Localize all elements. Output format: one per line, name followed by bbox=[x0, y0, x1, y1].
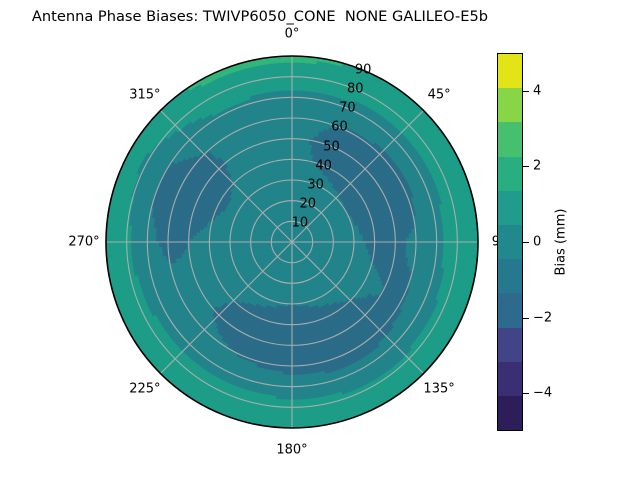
colorbar-tick-label: −2 bbox=[533, 310, 552, 325]
colorbar-tick-label: 4 bbox=[533, 83, 541, 98]
azimuth-tick-label-0: 0° bbox=[285, 27, 300, 42]
colorbar-tick-label: −4 bbox=[533, 386, 552, 401]
radial-tick-label-90: 90 bbox=[355, 63, 372, 78]
colorbar-tick bbox=[523, 91, 529, 92]
colorbar-band bbox=[498, 396, 522, 430]
azimuth-tick-label-45: 45° bbox=[428, 87, 451, 102]
colorbar-band bbox=[498, 54, 522, 88]
colorbar-band bbox=[498, 122, 522, 156]
radial-tick-label-70: 70 bbox=[339, 101, 356, 116]
colorbar-band bbox=[498, 157, 522, 191]
colorbar-tick bbox=[523, 166, 529, 167]
azimuth-tick-label-225: 225° bbox=[129, 382, 160, 397]
azimuth-tick-label-135: 135° bbox=[423, 382, 454, 397]
colorbar-band bbox=[498, 362, 522, 396]
colorbar-band bbox=[498, 225, 522, 259]
colorbar-axis-label: Bias (mm) bbox=[554, 209, 569, 276]
radial-tick-label-20: 20 bbox=[300, 196, 317, 211]
colorbar-tick bbox=[523, 318, 529, 319]
colorbar-band bbox=[498, 293, 522, 327]
polar-grid bbox=[106, 56, 478, 428]
radial-tick-label-10: 10 bbox=[292, 215, 309, 230]
radial-tick-label-40: 40 bbox=[315, 158, 332, 173]
colorbar-band bbox=[498, 328, 522, 362]
colorbar-band bbox=[498, 88, 522, 122]
radial-tick-label-80: 80 bbox=[347, 82, 364, 97]
polar-axes: 0°45°90135°180°225°270°315° 102030405060… bbox=[105, 55, 479, 429]
colorbar-tick bbox=[523, 242, 529, 243]
colorbar: 420−2−4 Bias (mm) bbox=[497, 53, 617, 431]
polar-plot-canvas bbox=[105, 55, 479, 429]
colorbar-tick-label: 2 bbox=[533, 159, 541, 174]
colorbar-tick bbox=[523, 393, 529, 394]
radial-tick-label-50: 50 bbox=[323, 139, 340, 154]
azimuth-tick-label-180: 180° bbox=[276, 443, 307, 458]
azimuth-tick-label-270: 270° bbox=[68, 235, 99, 250]
page-title: Antenna Phase Biases: TWIVP6050_CONE NON… bbox=[0, 8, 520, 25]
radial-tick-label-60: 60 bbox=[331, 120, 348, 135]
colorbar-gradient bbox=[497, 53, 523, 431]
radial-tick-label-30: 30 bbox=[307, 177, 324, 192]
matplotlib-figure: Antenna Phase Biases: TWIVP6050_CONE NON… bbox=[0, 0, 640, 480]
colorbar-band bbox=[498, 191, 522, 225]
colorbar-tick-label: 0 bbox=[533, 235, 541, 250]
azimuth-tick-label-315: 315° bbox=[129, 87, 160, 102]
colorbar-band bbox=[498, 259, 522, 293]
